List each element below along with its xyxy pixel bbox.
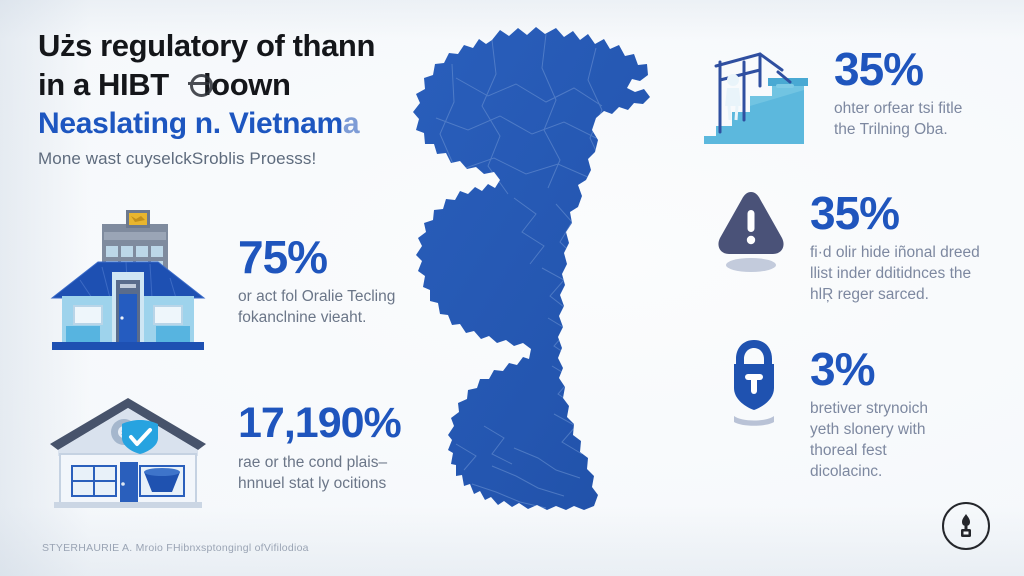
stat-house-desc-line-2: hnnuel stat ly ocitions — [238, 473, 401, 494]
headline-line-2-tail: loown — [203, 67, 291, 102]
headline-line-1: Użs regulatory of thann — [38, 26, 438, 65]
headline-block: Użs regulatory of thann in a HIBT loown … — [38, 26, 438, 169]
stat-lock-desc-line-1: bretiver strynoich — [810, 398, 928, 419]
headline-tagline: Mone wast cuyselckSroblis Proesss! — [38, 149, 438, 169]
stat-bank-desc: or act fol Oralie Tecling fokanclnine vi… — [238, 286, 395, 328]
stat-warning-desc: fi·d olir hide iñonal dreed llist inder … — [810, 242, 980, 305]
stat-warning-desc-line-3: hlŖ reger sarced. — [810, 284, 980, 305]
stat-stairs-number: 35% — [834, 44, 962, 94]
headline-line-2-text: in a HIBT — [38, 67, 169, 102]
stat-stairs-desc-line-2: the Trilning Oba. — [834, 119, 962, 140]
stat-warning-text: 35% fi·d olir hide iñonal dreed llist in… — [810, 186, 980, 305]
stat-warning-number: 35% — [810, 188, 980, 238]
stat-stairs-desc-line-1: ohter orfear tsi fitle — [834, 98, 962, 119]
circle-strike-icon — [190, 74, 213, 97]
bank-building-icon — [40, 206, 216, 361]
headline-accent-tail: a — [343, 107, 359, 140]
brand-mark-icon — [942, 502, 990, 550]
vietnam-map — [396, 18, 742, 566]
stat-lock-text: 3% bretiver strynoich yeth slonery with … — [810, 336, 928, 482]
warning-triangle-icon — [712, 186, 790, 283]
stat-stairs-text: 35% ohter orfear tsi fitle the Trilning … — [834, 40, 962, 140]
stat-lock-desc-line-4: dicolacinc. — [810, 461, 928, 482]
stat-lock-desc: bretiver strynoich yeth slonery with tho… — [810, 398, 928, 482]
headline-accent-text: Neaslating n. Vietnam — [38, 107, 343, 140]
padlock-shield-icon — [718, 336, 790, 433]
stat-warning-desc-line-1: fi·d olir hide iñonal dreed — [810, 242, 980, 263]
infographic-canvas: Użs regulatory of thann in a HIBT loown … — [0, 0, 1024, 576]
stat-bank-text: 75% or act fol Oralie Tecling fokanclnin… — [238, 206, 395, 328]
stat-lock: 3% bretiver strynoich yeth slonery with … — [718, 336, 928, 482]
stat-lock-desc-line-2: yeth slonery with — [810, 419, 928, 440]
stat-bank: 75% or act fol Oralie Tecling fokanclnin… — [40, 206, 395, 361]
stat-bank-number: 75% — [238, 232, 395, 282]
stat-stairs-desc: ohter orfear tsi fitle the Trilning Oba. — [834, 98, 962, 140]
stat-house-desc: rae or the cond plais– hnnuel stat ly oc… — [238, 452, 401, 494]
stat-house-desc-line-1: rae or the cond plais– — [238, 452, 401, 473]
stat-lock-desc-line-3: thoreal fest — [810, 440, 928, 461]
headline-line-2: in a HIBT loown — [38, 65, 438, 104]
stat-house-number: 17,190% — [238, 398, 401, 448]
headline-accent: Neaslating n. Vietnama — [38, 104, 438, 144]
stat-bank-desc-line-2: fokanclnine vieaht. — [238, 307, 395, 328]
stat-warning-desc-line-2: llist inder dditidnces the — [810, 263, 980, 284]
footer-note: STYERHAURIE A. Mroio FHibnxsptongingl of… — [42, 542, 309, 554]
stat-stairs: 35% ohter orfear tsi fitle the Trilning … — [700, 40, 962, 157]
stairs-railing-icon — [700, 40, 812, 157]
stat-lock-number: 3% — [810, 344, 928, 394]
insured-house-icon: $ — [40, 392, 216, 517]
stat-bank-desc-line-1: or act fol Oralie Tecling — [238, 286, 395, 307]
stat-warning: 35% fi·d olir hide iñonal dreed llist in… — [712, 186, 980, 305]
stat-house: $ 17,190% rae or the cond plais– hnnuel … — [40, 392, 401, 517]
stat-house-text: 17,190% rae or the cond plais– hnnuel st… — [238, 392, 401, 494]
